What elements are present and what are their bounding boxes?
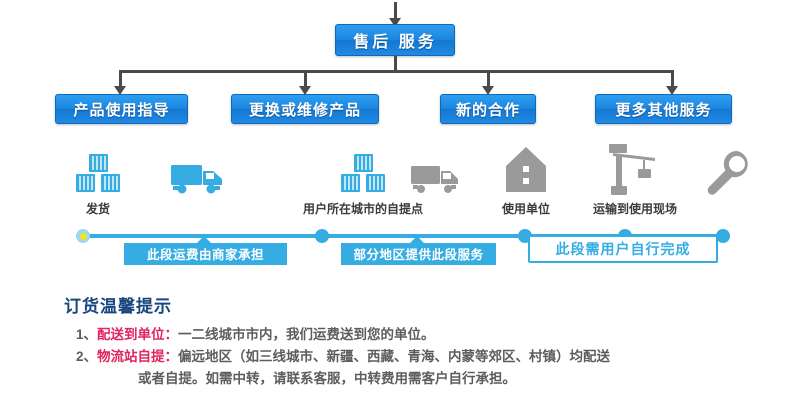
notes-title: 订货温馨提示 xyxy=(64,292,780,317)
timeline-dot-start xyxy=(76,229,90,243)
logistics-step-6: 运输到使用现场 xyxy=(580,142,690,217)
logistics-step-1-label: 发货 xyxy=(86,200,110,217)
service-flow-infographic: 售后 服务 产品使用指导 更换或维修产品 新的合作 更多其他服务 xyxy=(0,0,790,412)
logistics-step-2 xyxy=(168,160,228,200)
note-item-2-number: 2、 xyxy=(76,346,97,368)
containers-icon xyxy=(339,152,387,196)
house-icon xyxy=(504,146,548,196)
note-item-1-body: 一二线城市市内，我们运费送到您的单位。 xyxy=(178,324,435,346)
notes-section: 订货温馨提示 1、 配送到单位： 一二线城市市内，我们运费送到您的单位。 2、 … xyxy=(64,292,780,390)
truck-icon xyxy=(410,162,462,196)
logistics-step-4 xyxy=(408,162,464,200)
note-item-2: 2、 物流站自提： 偏远地区（如三线城市、新疆、西藏、青海、内蒙等郊区、村镇）均… xyxy=(76,346,780,368)
note-item-1-number: 1、 xyxy=(76,324,97,346)
note-item-1-key: 配送到单位： xyxy=(97,324,178,346)
timeline-segment-2-label: 部分地区提供此段服务 xyxy=(353,244,483,263)
flow-node-branch-3[interactable]: 新的合作 xyxy=(440,94,536,124)
logistics-step-7 xyxy=(700,148,756,200)
branch-bus-line xyxy=(119,70,674,73)
timeline-segment-1-label: 此段运费由商家承担 xyxy=(147,244,264,263)
timeline-segment-3: 此段需用户自行完成 xyxy=(528,235,718,263)
crane-icon xyxy=(605,142,665,196)
wrench-icon xyxy=(704,148,752,196)
logistics-step-5-label: 使用单位 xyxy=(502,200,550,217)
notch-icon xyxy=(409,236,425,244)
timeline-dot-2 xyxy=(315,229,329,243)
logistics-step-1: 发货 xyxy=(66,152,130,217)
timeline-dot-5 xyxy=(716,229,730,243)
flow-node-root[interactable]: 售后 服务 xyxy=(335,24,455,56)
timeline-segment-2: 部分地区提供此段服务 xyxy=(341,243,496,265)
truck-icon xyxy=(170,160,226,196)
note-item-1: 1、 配送到单位： 一二线城市市内，我们运费送到您的单位。 xyxy=(76,324,780,346)
note-item-2-continuation: 或者自提。如需中转，请联系客服，中转费用需客户自行承担。 xyxy=(138,368,780,390)
containers-icon xyxy=(74,152,122,196)
note-item-2-key: 物流站自提： xyxy=(97,346,178,368)
note-item-2-body: 偏远地区（如三线城市、新疆、西藏、青海、内蒙等郊区、村镇）均配送 xyxy=(178,346,610,368)
notch-icon xyxy=(196,236,212,244)
logistics-step-5: 使用单位 xyxy=(496,146,556,217)
timeline-segment-1: 此段运费由商家承担 xyxy=(124,243,287,265)
flow-node-branch-1[interactable]: 产品使用指导 xyxy=(55,94,188,124)
timeline-segment-3-label: 此段需用户自行完成 xyxy=(556,239,691,259)
flow-node-branch-4[interactable]: 更多其他服务 xyxy=(595,94,732,124)
flow-node-branch-2[interactable]: 更换或维修产品 xyxy=(231,94,379,124)
logistics-step-6-label: 运输到使用现场 xyxy=(593,200,677,217)
logistics-step-3-label: 用户所在城市的自提点 xyxy=(303,200,423,217)
